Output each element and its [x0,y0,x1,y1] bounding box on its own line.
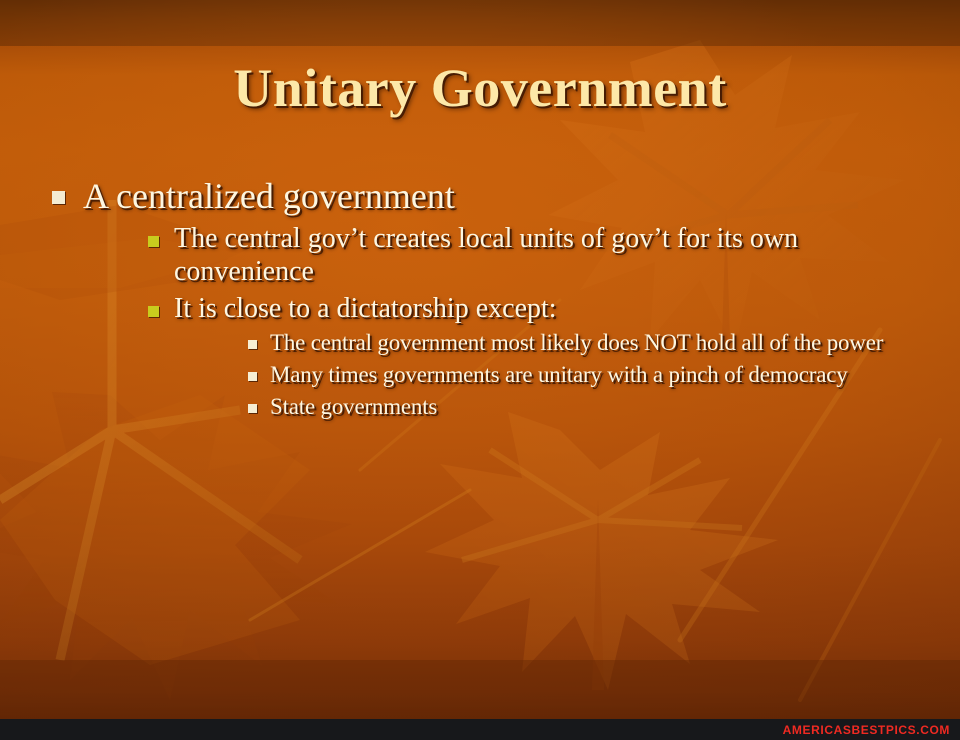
watermark-bar: AMERICASBESTPICS.COM [0,719,960,740]
bullet-text: It is close to a dictatorship except: [174,293,557,326]
square-bullet-icon [248,404,257,413]
bullet-text: A centralized government [83,176,455,217]
bullet-text: The central government most likely does … [270,329,883,358]
square-bullet-icon [52,191,65,204]
slide-title: Unitary Government [0,60,960,117]
square-bullet-icon [148,306,159,317]
bullet-item-level1: A centralized government [52,176,960,217]
bullet-item-level3: State governments [248,393,960,422]
square-bullet-icon [248,372,257,381]
presentation-slide: Unitary Government A centralized governm… [0,0,960,740]
square-bullet-icon [248,340,257,349]
bullet-item-level2: It is close to a dictatorship except: [148,293,960,326]
bullet-text: The central gov’t creates local units of… [174,223,874,289]
bullet-item-level2: The central gov’t creates local units of… [148,223,960,289]
bullet-item-level3: The central government most likely does … [248,329,960,358]
bullet-text: State governments [270,393,437,422]
square-bullet-icon [148,236,159,247]
watermark-label: AMERICASBESTPICS.COM [783,723,950,737]
bullet-item-level3: Many times governments are unitary with … [248,361,960,390]
slide-body-content: A centralized government The central gov… [0,176,960,425]
bullet-text: Many times governments are unitary with … [270,361,848,390]
